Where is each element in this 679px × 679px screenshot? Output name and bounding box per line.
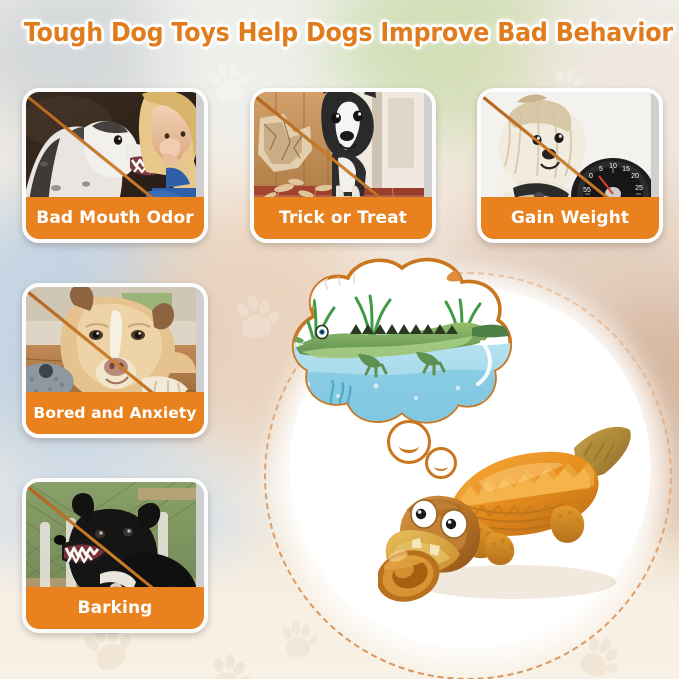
behavior-card-barking[interactable]: Barking <box>22 478 208 633</box>
behavior-card-bad-mouth-odor[interactable]: Bad Mouth Odor <box>22 88 208 243</box>
paw-print-icon <box>276 618 320 664</box>
product-crocodile-chew-toy <box>378 404 640 616</box>
svg-text:20: 20 <box>631 173 639 180</box>
svg-text:5: 5 <box>599 166 603 173</box>
card-label: Trick or Treat <box>254 197 432 239</box>
behavior-card-trick-or-treat[interactable]: Trick or Treat <box>250 88 436 243</box>
card-label: Barking <box>26 587 204 629</box>
card-inner: Bored and Anxiety <box>26 287 204 434</box>
behavior-card-gain-weight[interactable]: 0510 152025 303540 455055 Gain Weigh <box>477 88 663 243</box>
card-inner: Barking <box>26 482 204 629</box>
card-label: Bored and Anxiety <box>26 392 204 434</box>
card-label: Bad Mouth Odor <box>26 197 204 239</box>
behavior-card-bored-and-anxiety[interactable]: Bored and Anxiety <box>22 283 208 438</box>
svg-text:15: 15 <box>622 166 630 173</box>
card-inner: Bad Mouth Odor <box>26 92 204 239</box>
svg-text:0: 0 <box>589 173 593 180</box>
card-inner: 0510 152025 303540 455055 Gain Weigh <box>481 92 659 239</box>
page-title: Tough Dog Toys Help Dogs Improve Bad Beh… <box>24 18 655 48</box>
card-inner: Trick or Treat <box>254 92 432 239</box>
svg-text:55: 55 <box>583 187 591 194</box>
card-label: Gain Weight <box>481 197 659 239</box>
svg-text:25: 25 <box>635 185 643 192</box>
infographic-canvas: Tough Dog Toys Help Dogs Improve Bad Beh… <box>0 0 679 679</box>
